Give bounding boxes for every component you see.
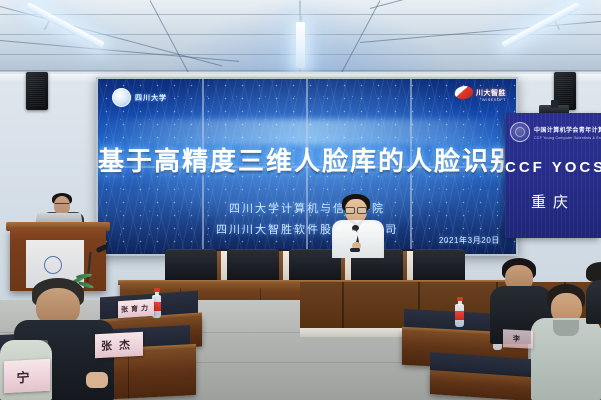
screen-logo-left: 四川大学	[112, 88, 167, 107]
ceiling-blue-glow	[160, 0, 460, 78]
podium-speaker-glasses-icon	[55, 203, 69, 207]
banner-acronym: CCF YOCSEF	[505, 159, 601, 176]
ceiling-tile-line	[0, 14, 601, 15]
presentation-date: 2021年3月20日	[439, 235, 500, 246]
university-seal-icon	[112, 88, 131, 107]
ceiling	[0, 0, 601, 78]
banner-city: 重庆	[505, 191, 601, 212]
name-placard: 李	[503, 329, 533, 349]
placard-name: 张育力	[121, 302, 151, 314]
led-video-wall: 四川大学 川大智胜 WISESOFT 基于高精度三维人脸库的人脸识别 四川大学计…	[96, 77, 518, 256]
bottle-label	[455, 311, 464, 320]
ceiling-tile-line	[0, 70, 601, 71]
person-hand	[86, 372, 108, 388]
presentation-title: 基于高精度三维人脸库的人脸识别	[98, 141, 516, 178]
screen-logo-right-subtext: WISESOFT	[482, 97, 506, 102]
ccf-seal-icon	[510, 122, 530, 142]
audience-member	[586, 262, 601, 322]
ceiling-tube-light	[296, 22, 305, 68]
company-mark-icon	[454, 86, 474, 99]
podium-cloth-logo-icon	[44, 256, 62, 274]
person-hair	[586, 262, 601, 282]
banner-org-en: CCF Young Computer Scientists & Engineer…	[534, 136, 601, 140]
desk-seam	[128, 352, 129, 398]
banner-clip	[551, 100, 558, 108]
presenter-center	[330, 194, 386, 256]
presentation-subtitle-1: 四川大学计算机与信息学院	[98, 200, 516, 216]
name-placard: 宁	[4, 359, 50, 393]
wristwatch-icon	[350, 248, 360, 252]
placard-name: 张杰	[101, 336, 137, 354]
ceiling-tube-light	[501, 2, 580, 49]
name-placard: 张育力	[118, 299, 154, 319]
screen-logo-right-text: 川大智胜	[476, 88, 506, 98]
person-torso	[586, 280, 601, 324]
wainscot-seam	[342, 282, 344, 330]
ccf-yocsef-banner: 中国计算机学会青年计算机科技论坛 CCF Young Computer Scie…	[505, 113, 601, 238]
wall-speaker-left	[26, 72, 48, 110]
screen-logo-right: 川大智胜 WISESOFT	[455, 86, 506, 99]
placard-name: 宁	[16, 366, 37, 386]
screen-logo-left-text: 四川大学	[135, 93, 167, 103]
conference-room-photo: 四川大学 川大智胜 WISESOFT 基于高精度三维人脸库的人脸识别 四川大学计…	[0, 0, 601, 400]
name-placard: 张杰	[95, 332, 143, 359]
banner-header: 中国计算机学会青年计算机科技论坛 CCF Young Computer Scie…	[510, 122, 601, 142]
ceiling-tube-light	[25, 2, 104, 49]
banner-org-cn: 中国计算机学会青年计算机科技论坛	[534, 125, 601, 134]
glasses-icon	[345, 207, 367, 212]
polo-collar	[553, 320, 579, 336]
placard-name: 李	[513, 334, 523, 345]
